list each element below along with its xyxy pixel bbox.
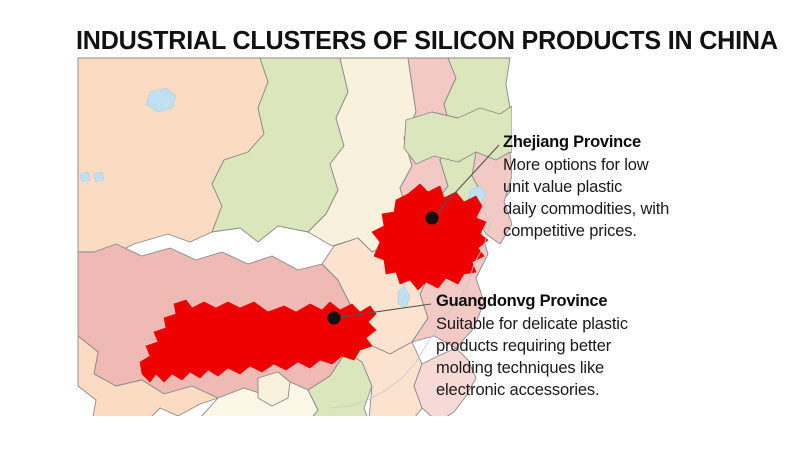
infographic-root: INDUSTRIAL CLUSTERS OF SILICON PRODUCTS … <box>0 0 800 450</box>
lake-small-a <box>80 172 90 182</box>
callout-zhejiang-line-1: More options for low <box>503 154 669 176</box>
callout-zhejiang-line-3: daily commodities, with <box>503 198 669 220</box>
callout-guangdong: Guangdonvg Province Suitable for delicat… <box>436 292 628 401</box>
lake-small-b <box>94 172 104 182</box>
callout-zhejiang-body: More options for low unit value plastic … <box>503 154 669 242</box>
callout-zhejiang-line-4: competitive prices. <box>503 220 669 242</box>
page-title: INDUSTRIAL CLUSTERS OF SILICON PRODUCTS … <box>76 26 746 56</box>
callout-guangdong-body: Suitable for delicate plastic products r… <box>436 313 628 401</box>
callout-guangdong-line-1: Suitable for delicate plastic <box>436 313 628 335</box>
callout-guangdong-heading: Guangdonvg Province <box>436 292 628 311</box>
callout-guangdong-line-2: products requiring better <box>436 335 628 357</box>
callout-guangdong-line-3: molding techniques like <box>436 357 628 379</box>
callout-guangdong-line-4: electronic accessories. <box>436 379 628 401</box>
callout-zhejiang-heading: Zhejiang Province <box>503 133 669 152</box>
callout-zhejiang: Zhejiang Province More options for low u… <box>503 133 669 242</box>
callout-zhejiang-line-2: unit value plastic <box>503 176 669 198</box>
